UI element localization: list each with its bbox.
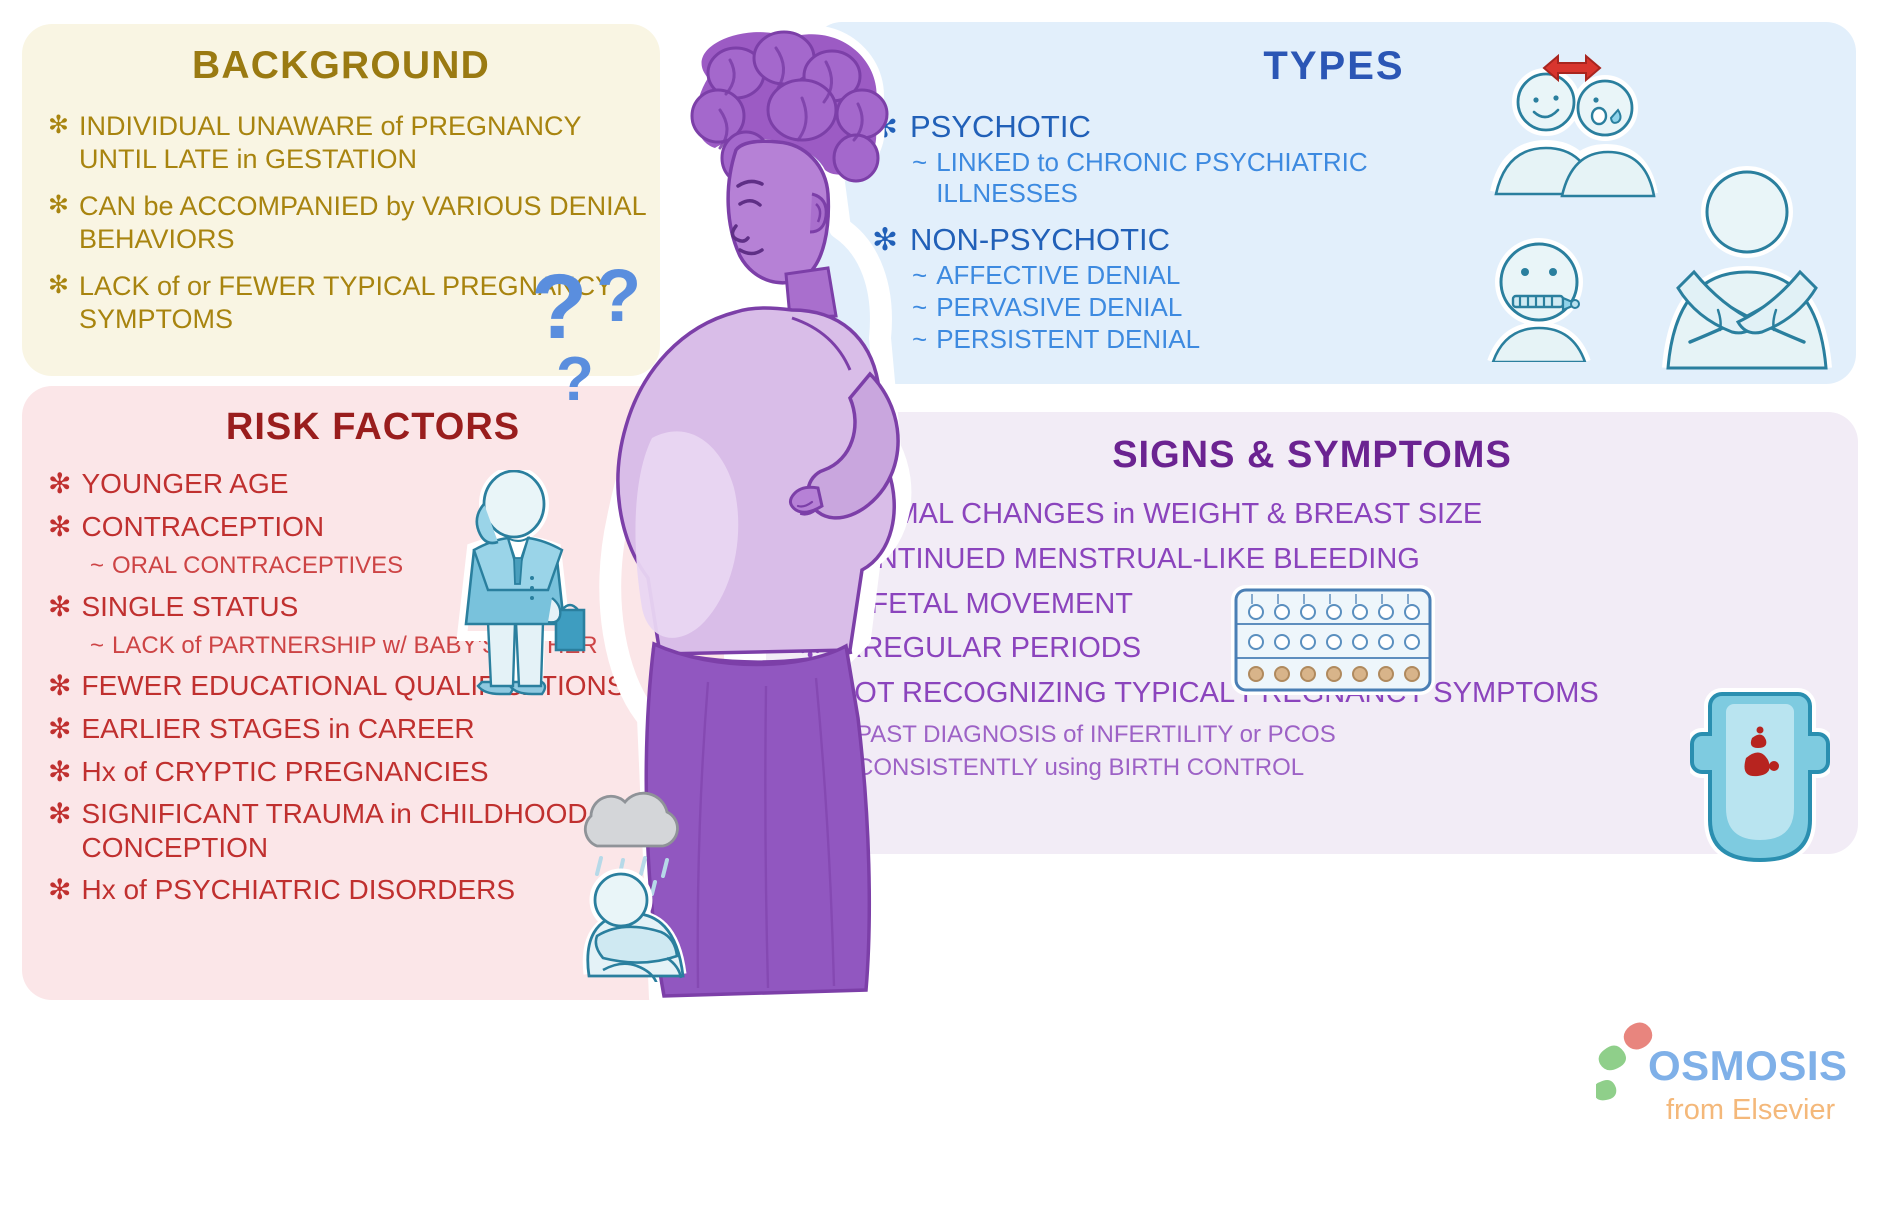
- tilde-bullet-icon: ~: [912, 147, 927, 208]
- panel-signs-symptoms-list: ✻ MINIMAL CHANGES in WEIGHT & BREAST SIZ…: [798, 497, 1858, 783]
- asterisk-bullet-icon: ✻: [798, 542, 822, 577]
- osmosis-wordmark: OSMOSIS: [1648, 1042, 1848, 1090]
- list-item: ✻ NOT RECOGNIZING TYPICAL PREGNANCY SYMP…: [798, 676, 1858, 711]
- list-subitem-label: AFFECTIVE DENIAL: [936, 260, 1180, 291]
- asterisk-bullet-icon: ✻: [48, 270, 69, 336]
- list-item: ✻ INDIVIDUAL UNAWARE of PREGNANCY UNTIL …: [48, 110, 660, 176]
- tilde-bullet-icon: ~: [912, 292, 927, 323]
- list-subitem: ~ PERSISTENT DENIAL: [912, 324, 1492, 355]
- list-item: ✻ ↓↓ FETAL MOVEMENT: [798, 587, 1858, 622]
- list-group: ✻ PSYCHOTIC ~ LINKED to CHRONIC PSYCHIAT…: [872, 109, 1492, 208]
- list-subitem: ~ LACK of PARTNERSHIP w/ BABY'S FATHER: [90, 632, 724, 660]
- asterisk-bullet-icon: ✻: [48, 797, 71, 864]
- list-subitem-label: LINKED to CHRONIC PSYCHIATRIC ILLNESSES: [936, 147, 1492, 208]
- list-item-label: SIGNIFICANT TRAUMA in CHILDHOOD or at CO…: [81, 797, 724, 864]
- osmosis-logo: OSMOSIS from Elsevier: [1596, 1010, 1858, 1160]
- list-item: ✻ MINIMAL CHANGES in WEIGHT & BREAST SIZ…: [798, 497, 1858, 532]
- tilde-bullet-icon: ~: [912, 260, 927, 291]
- panel-types: TYPES ✻ PSYCHOTIC ~ LINKED to CHRONIC PS…: [812, 22, 1856, 384]
- asterisk-bullet-icon: ✻: [872, 222, 898, 258]
- asterisk-bullet-icon: ✻: [798, 497, 822, 532]
- list-item: ✻ IRREGULAR PERIODS: [798, 631, 1858, 666]
- list-item-label: Hx of PSYCHIATRIC DISORDERS: [81, 873, 515, 907]
- list-subitem-label: PERVASIVE DENIAL: [936, 292, 1182, 323]
- infographic-canvas: BACKGROUND ✻ INDIVIDUAL UNAWARE of PREGN…: [0, 0, 1878, 1224]
- asterisk-bullet-icon: ✻: [48, 510, 71, 544]
- list-subitem-label: PAST DIAGNOSIS of INFERTILITY or PCOS: [856, 721, 1336, 750]
- asterisk-bullet-icon: ✻: [798, 631, 822, 666]
- asterisk-bullet-icon: ✻: [48, 669, 71, 703]
- list-item-label: Hx of CRYPTIC PREGNANCIES: [81, 755, 488, 789]
- asterisk-bullet-icon: ✻: [48, 590, 71, 624]
- list-item: ✻ CONTINUED MENSTRUAL-LIKE BLEEDING: [798, 542, 1858, 577]
- list-item: ✻ SINGLE STATUS: [48, 590, 724, 624]
- osmosis-tagline: from Elsevier: [1666, 1094, 1835, 1127]
- list-subitem: ~ PAST DIAGNOSIS of INFERTILITY or PCOS: [834, 721, 1858, 750]
- asterisk-bullet-icon: ✻: [872, 109, 898, 145]
- panel-risk-factors: RISK FACTORS ✻ YOUNGER AGE ✻ CONTRACEPTI…: [22, 386, 724, 1000]
- list-subitem-label: CONSISTENTLY using BIRTH CONTROL: [856, 754, 1304, 783]
- list-item-label: YOUNGER AGE: [81, 467, 288, 501]
- tilde-bullet-icon: ~: [834, 754, 848, 783]
- list-item: ✻ CONTRACEPTION: [48, 510, 724, 544]
- list-item: ✻ Hx of PSYCHIATRIC DISORDERS: [48, 873, 724, 907]
- asterisk-bullet-icon: ✻: [48, 190, 69, 256]
- question-mark-icon: ?: [556, 344, 594, 415]
- asterisk-bullet-icon: ✻: [798, 587, 822, 622]
- list-item-label: EARLIER STAGES in CAREER: [81, 712, 474, 746]
- question-mark-icon: ?: [596, 253, 641, 338]
- list-subitem-label: PERSISTENT DENIAL: [936, 324, 1200, 355]
- asterisk-bullet-icon: ✻: [798, 676, 822, 711]
- list-item: ✻ FEWER EDUCATIONAL QUALIFICATIONS: [48, 669, 724, 703]
- tilde-bullet-icon: ~: [90, 552, 104, 580]
- tilde-bullet-icon: ~: [834, 721, 848, 750]
- panel-types-title: TYPES: [812, 44, 1856, 89]
- list-item-label: SINGLE STATUS: [81, 590, 298, 624]
- panel-signs-symptoms-title: SIGNS & SYMPTOMS: [766, 434, 1858, 477]
- tilde-bullet-icon: ~: [90, 632, 104, 660]
- list-item-label: CAN be ACCOMPANIED by VARIOUS DENIAL BEH…: [79, 190, 660, 256]
- list-item: ✻ Hx of CRYPTIC PREGNANCIES: [48, 755, 724, 789]
- list-item-label: INDIVIDUAL UNAWARE of PREGNANCY UNTIL LA…: [79, 110, 660, 176]
- panel-risk-factors-title: RISK FACTORS: [22, 406, 724, 449]
- list-subitem: ~ ORAL CONTRACEPTIVES: [90, 552, 724, 580]
- list-item-label: NON-PSYCHOTIC: [910, 222, 1170, 258]
- list-subitem: ~ LINKED to CHRONIC PSYCHIATRIC ILLNESSE…: [912, 147, 1492, 208]
- list-item-label: CONTINUED MENSTRUAL-LIKE BLEEDING: [833, 542, 1420, 577]
- list-item-label: ↓↓ FETAL MOVEMENT: [833, 587, 1133, 622]
- asterisk-bullet-icon: ✻: [48, 873, 71, 907]
- list-item-label: CONTRACEPTION: [81, 510, 324, 544]
- list-subitem-label: ORAL CONTRACEPTIVES: [112, 552, 403, 580]
- list-subitem: ~ AFFECTIVE DENIAL: [912, 260, 1492, 291]
- list-item-label: MINIMAL CHANGES in WEIGHT & BREAST SIZE: [833, 497, 1482, 532]
- asterisk-bullet-icon: ✻: [48, 467, 71, 501]
- list-item: ✻ YOUNGER AGE: [48, 467, 724, 501]
- list-item-label: PSYCHOTIC: [910, 109, 1091, 145]
- list-group: ✻ NON-PSYCHOTIC ~ AFFECTIVE DENIAL ~ PER…: [872, 222, 1492, 354]
- panel-risk-factors-list: ✻ YOUNGER AGE ✻ CONTRACEPTION ~ ORAL CON…: [48, 467, 724, 907]
- list-item: ✻ SIGNIFICANT TRAUMA in CHILDHOOD or at …: [48, 797, 724, 864]
- asterisk-bullet-icon: ✻: [48, 755, 71, 789]
- list-item: ✻ PSYCHOTIC: [872, 109, 1492, 145]
- list-subitem: ~ PERVASIVE DENIAL: [912, 292, 1492, 323]
- list-item: ✻ EARLIER STAGES in CAREER: [48, 712, 724, 746]
- list-item: ✻ CAN be ACCOMPANIED by VARIOUS DENIAL B…: [48, 190, 660, 256]
- list-item: ✻ NON-PSYCHOTIC: [872, 222, 1492, 258]
- list-item-label: FEWER EDUCATIONAL QUALIFICATIONS: [81, 669, 625, 703]
- list-item-label: IRREGULAR PERIODS: [833, 631, 1141, 666]
- asterisk-bullet-icon: ✻: [48, 712, 71, 746]
- panel-types-list: ✻ PSYCHOTIC ~ LINKED to CHRONIC PSYCHIAT…: [872, 109, 1492, 354]
- list-item-label: NOT RECOGNIZING TYPICAL PREGNANCY SYMPTO…: [833, 676, 1598, 711]
- panel-signs-symptoms: SIGNS & SYMPTOMS ✻ MINIMAL CHANGES in WE…: [766, 412, 1858, 854]
- panel-background-title: BACKGROUND: [22, 44, 660, 88]
- list-subitem: ~ CONSISTENTLY using BIRTH CONTROL: [834, 754, 1858, 783]
- list-subitem-label: LACK of PARTNERSHIP w/ BABY'S FATHER: [112, 632, 598, 660]
- tilde-bullet-icon: ~: [912, 324, 927, 355]
- asterisk-bullet-icon: ✻: [48, 110, 69, 176]
